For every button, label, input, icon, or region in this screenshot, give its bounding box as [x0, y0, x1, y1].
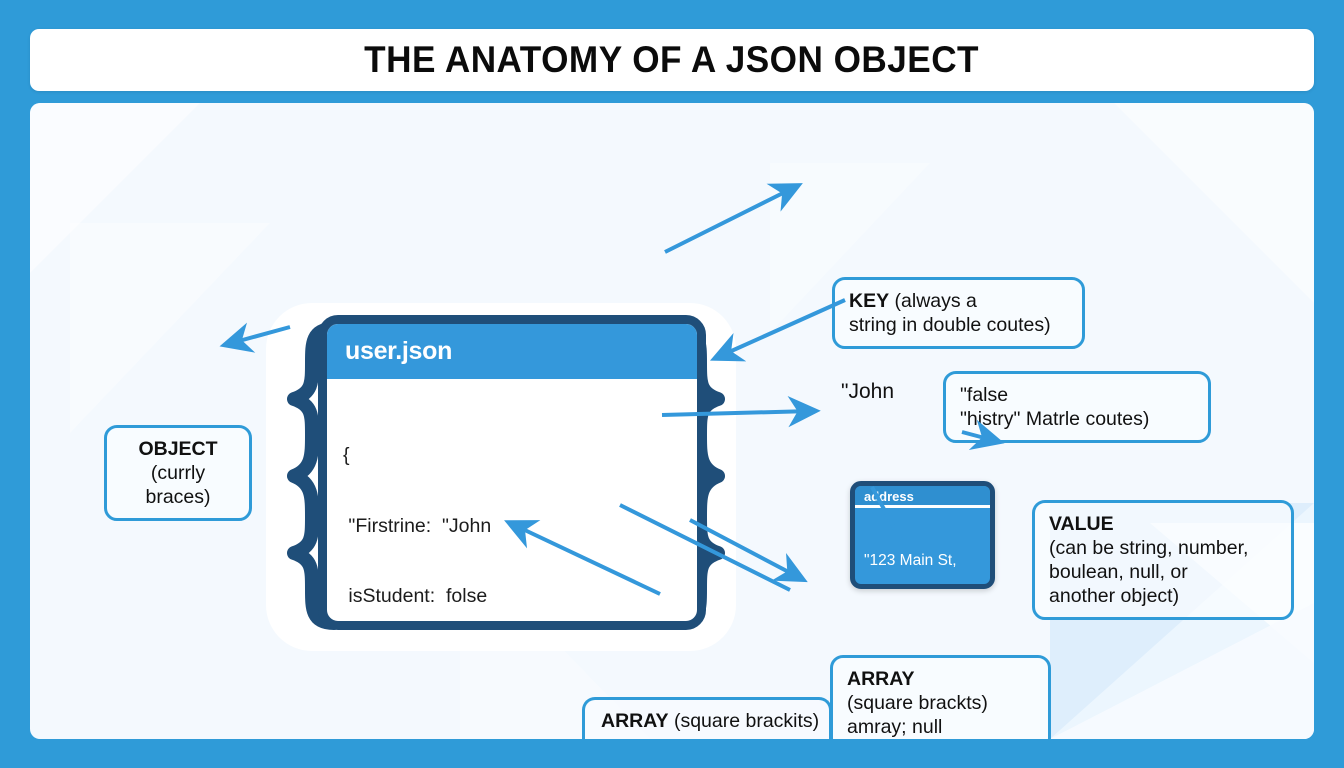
callout-array-block-line2: amray; null [847, 716, 942, 738]
json-code-body: { "Firstrine: "John isStudent: folse age… [327, 379, 697, 630]
callout-value-line1: (can be string, number, [1049, 537, 1248, 559]
callout-array-block-line1: (square brackts) [847, 692, 988, 714]
callout-object: OBJECT (currly braces) [104, 425, 252, 521]
callout-value: VALUE (can be string, number, boulean, n… [1032, 500, 1294, 620]
callout-key-title: KEY [849, 290, 889, 312]
code-line: isStudent: folse [343, 585, 697, 609]
callout-object-body: (currly braces) [145, 462, 210, 508]
code-line: { [343, 444, 697, 468]
callout-false-line1: "false [960, 384, 1008, 406]
address-card-title: address [855, 486, 990, 508]
code-line: "Firstrine: "John [343, 515, 697, 539]
callout-array-inline-title: ARRAY [601, 710, 669, 732]
callout-key-body2: string in double coutes) [849, 314, 1051, 336]
callout-value-line3: another object) [1049, 585, 1179, 607]
title-bar: THE ANATOMY OF A JSON OBJECT [30, 29, 1314, 91]
callout-false-line2: "histry" Matrle coutes) [960, 408, 1149, 430]
page-title: THE ANATOMY OF A JSON OBJECT [365, 39, 980, 81]
json-code-card-group: user.json { "Firstrine: "John isStudent:… [266, 303, 736, 651]
infographic-canvas: THE ANATOMY OF A JSON OBJECT [0, 0, 1344, 768]
diagram-area: user.json { "Firstrine: "John isStudent:… [30, 103, 1314, 739]
json-code-card: user.json { "Firstrine: "John isStudent:… [318, 315, 706, 630]
callout-key: KEY (always a string in double coutes) [832, 277, 1085, 349]
callout-object-title: OBJECT [138, 438, 217, 460]
callout-false-note: "false "histry" Matrle coutes) [943, 371, 1211, 443]
address-card-body: "123 Main St, city: Anytown, zipCode: 12… [855, 508, 990, 589]
card-header: user.json [327, 324, 697, 379]
nested-address-card: address "123 Main St, city: Anytown, zip… [850, 481, 995, 589]
callout-array-inline-body: (square brackits) [669, 710, 820, 732]
callout-value-line2: boulean, null, or [1049, 561, 1188, 583]
callout-array-inline: ARRAY (square brackits) [582, 697, 832, 739]
address-line: "123 Main St, [864, 551, 990, 570]
label-john-value: "John [841, 380, 894, 404]
callout-value-title: VALUE [1049, 513, 1114, 535]
callout-key-body: (always a [889, 290, 977, 312]
card-filename: user.json [345, 337, 452, 366]
callout-array-block-title: ARRAY [847, 668, 915, 690]
callout-array-block: ARRAY (square brackts) amray; null [830, 655, 1051, 739]
